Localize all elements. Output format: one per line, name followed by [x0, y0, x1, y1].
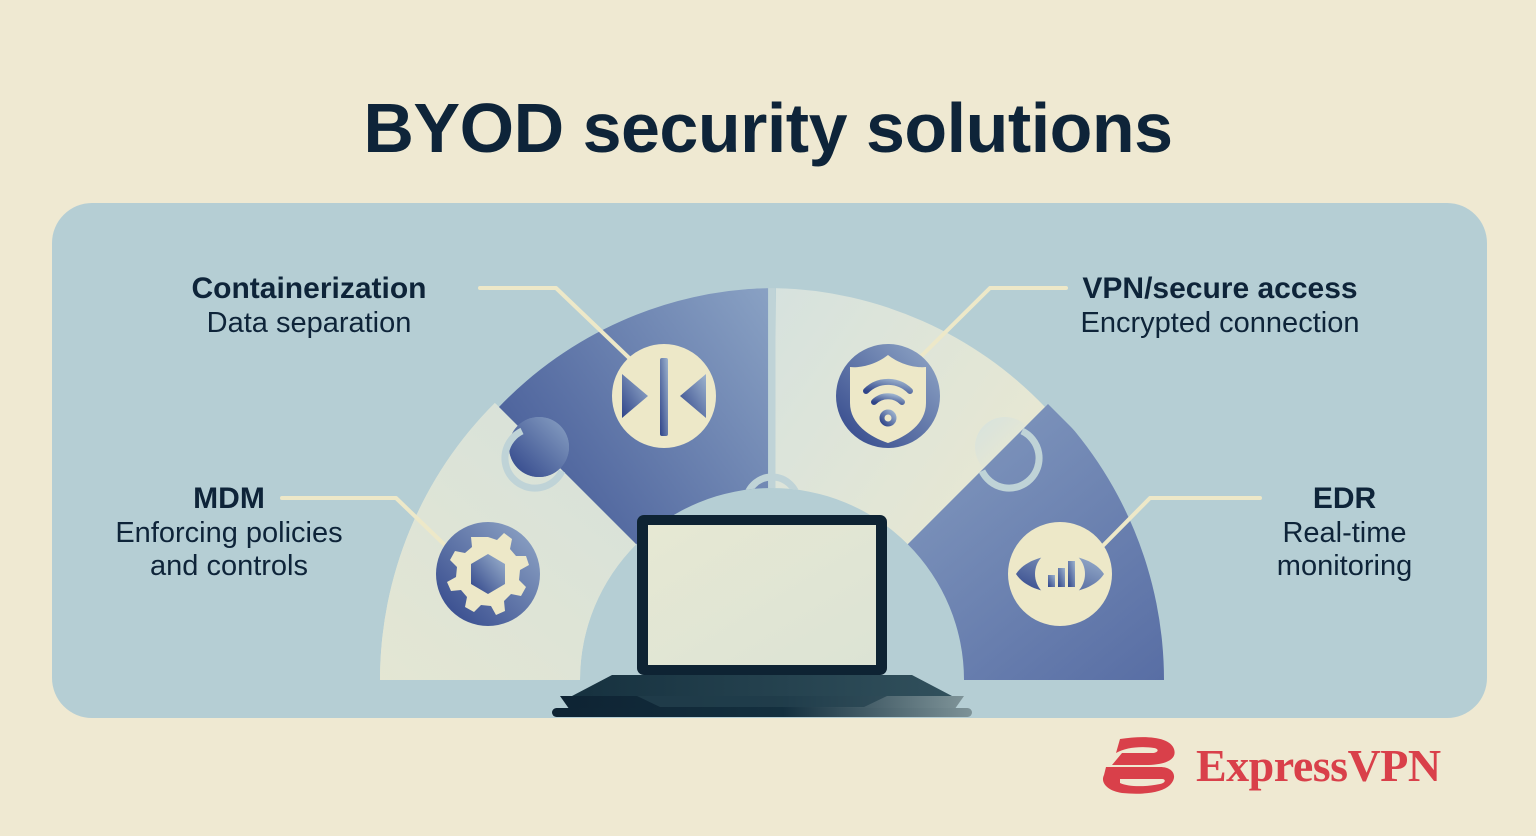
- label-containerization: Containerization Data separation: [138, 272, 480, 340]
- page-title: BYOD security solutions: [0, 88, 1536, 168]
- label-mdm-title: MDM: [74, 482, 384, 517]
- label-mdm-sub-line2: and controls: [74, 550, 384, 584]
- label-mdm: MDM Enforcing policies and controls: [74, 482, 384, 584]
- label-edr-sub-line2: monitoring: [1222, 550, 1467, 584]
- split-arrows-icon: [612, 344, 716, 448]
- expressvpn-logo: ExpressVPN: [1098, 735, 1441, 797]
- gear-icon: [436, 522, 540, 626]
- label-vpn-sub: Encrypted connection: [1040, 307, 1400, 341]
- label-vpn-title: VPN/secure access: [1040, 272, 1400, 307]
- expressvpn-e-icon: [1098, 735, 1182, 797]
- label-edr: EDR Real-time monitoring: [1222, 482, 1467, 584]
- label-edr-title: EDR: [1222, 482, 1467, 517]
- label-vpn: VPN/secure access Encrypted connection: [1040, 272, 1400, 340]
- shield-wifi-icon: [836, 344, 940, 448]
- label-containerization-title: Containerization: [138, 272, 480, 307]
- expressvpn-wordmark: ExpressVPN: [1196, 743, 1441, 789]
- eye-chart-icon: [1008, 522, 1112, 626]
- label-containerization-sub: Data separation: [138, 307, 480, 341]
- label-mdm-sub-line1: Enforcing policies: [74, 517, 384, 551]
- label-edr-sub-line1: Real-time: [1222, 517, 1467, 551]
- infographic-canvas: BYOD security solutions: [0, 0, 1536, 836]
